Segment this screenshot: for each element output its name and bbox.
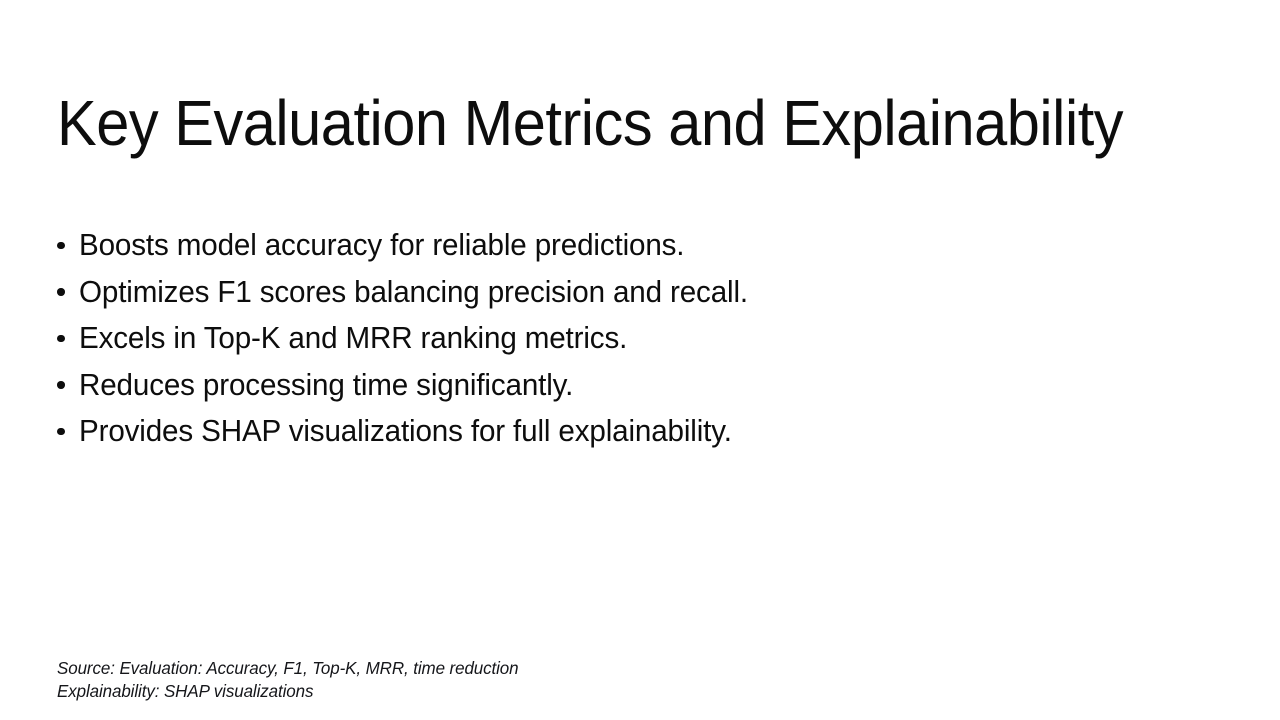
source-note-line-1: Source: Evaluation: Accuracy, F1, Top-K,… (57, 657, 519, 680)
list-item: Boosts model accuracy for reliable predi… (57, 222, 1157, 269)
list-item: Optimizes F1 scores balancing precision … (57, 269, 1157, 316)
page-title: Key Evaluation Metrics and Explainabilit… (57, 91, 1145, 155)
list-item-label: Excels in Top-K and MRR ranking metrics. (79, 315, 627, 362)
bullet-dot-icon (57, 381, 65, 389)
source-note-line-2: Explainability: SHAP visualizations (57, 680, 519, 703)
list-item-label: Boosts model accuracy for reliable predi… (79, 222, 684, 269)
list-item-label: Reduces processing time significantly. (79, 362, 573, 409)
bullet-dot-icon (57, 428, 65, 436)
bullet-dot-icon (57, 288, 65, 296)
list-item-label: Optimizes F1 scores balancing precision … (79, 269, 748, 316)
bullet-dot-icon (57, 242, 65, 250)
source-note: Source: Evaluation: Accuracy, F1, Top-K,… (57, 657, 533, 703)
list-item: Reduces processing time significantly. (57, 362, 1157, 409)
list-item: Provides SHAP visualizations for full ex… (57, 408, 1157, 455)
bullet-dot-icon (57, 335, 65, 343)
list-item-label: Provides SHAP visualizations for full ex… (79, 408, 732, 455)
slide-canvas: Key Evaluation Metrics and Explainabilit… (0, 0, 1280, 720)
bullet-list: Boosts model accuracy for reliable predi… (57, 222, 1157, 455)
list-item: Excels in Top-K and MRR ranking metrics. (57, 315, 1157, 362)
